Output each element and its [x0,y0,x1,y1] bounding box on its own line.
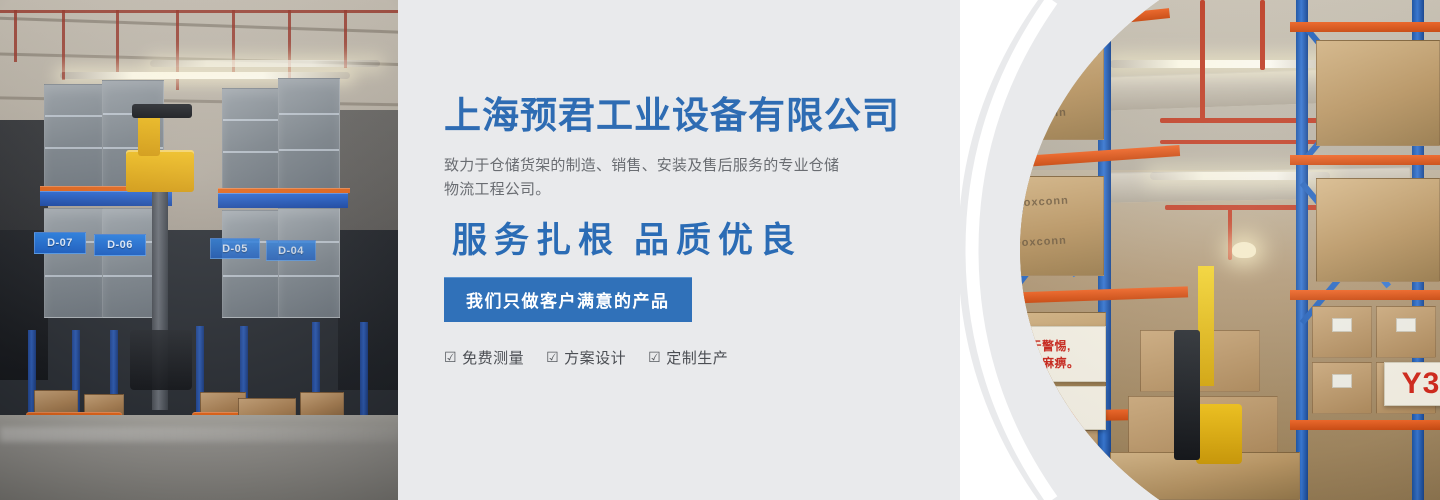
right-photo-clip: Foxconn Foxconn Foxconn Foxconn [960,0,1440,500]
slogan-part-2: 品质优良 [634,221,802,260]
forklift-base [130,330,192,390]
safety-line-1: 安全来于警惕, [992,340,1096,352]
carton-box [1312,306,1372,358]
feature-item-free-measure: ☑ 免费测量 [444,347,524,368]
slogan: 服务扎根品质优良 [444,222,964,261]
high-bay-lamp [1232,242,1256,258]
pallet-load [1316,40,1440,146]
box-barcode-label [1332,374,1352,388]
box-barcode-label [1396,318,1416,332]
rack-upright [990,18,1003,500]
check-icon: ☑ [648,350,661,364]
pallet-load [44,84,106,192]
rack-beam [1290,155,1440,165]
forklift-operator [1174,330,1200,460]
feature-list: ☑ 免费测量 ☑ 方案设计 ☑ 定制生产 [444,347,964,368]
pallet-load [1316,178,1440,282]
company-title: 上海预君工业设备有限公司 [444,96,964,137]
pallet-load [222,88,284,194]
right-rack-shadow [338,110,398,390]
rack-sign: D-06 [94,234,146,256]
sprinkler-pipe [0,10,398,13]
rack-sign: D-07 [34,232,86,254]
center-panel: 上海预君工业设备有限公司 致力于仓储货架的制造、销售、安装及售后服务的专业仓储物… [398,0,1000,500]
left-warehouse-photo: D-07 D-06 D-05 D-04 [0,0,398,500]
forklift-cab [126,150,194,192]
sprinkler-drop [14,10,17,62]
carton-box [1012,430,1098,490]
ceiling-light [150,60,380,67]
pallet-load [1004,176,1104,276]
rack-beam [1290,420,1440,430]
warehouse-floor [0,415,398,500]
aisle-sign-far: Y3 [1384,362,1440,406]
feature-label: 方案设计 [564,347,626,368]
forklift-carriage [132,104,192,118]
feature-item-custom-production: ☑ 定制生产 [648,347,728,368]
carton-box [1312,362,1372,414]
rack-beam [276,188,350,193]
feature-item-plan-design: ☑ 方案设计 [546,347,626,368]
company-subtitle: 致力于仓储货架的制造、销售、安装及售后服务的专业仓储物流工程公司。 [444,154,854,204]
right-warehouse-photo: Foxconn Foxconn Foxconn Foxconn [960,0,1440,500]
rack-sign: D-05 [210,238,260,259]
safety-sign: 安全来于警惕, 事故出于麻痹。 [982,326,1106,382]
sprinkler-pipe [1260,0,1265,70]
safety-line-2: 事故出于麻痹。 [992,357,1096,369]
feature-label: 定制生产 [666,347,728,368]
aisle-sign-label: Y3 [1023,391,1062,425]
rack-beam [1290,22,1440,32]
rack-beam [1290,290,1440,300]
rack-sign: D-04 [266,240,316,261]
forklift-mast [1198,266,1214,386]
sprinkler-pipe [1200,0,1205,120]
blue-pallet [276,192,348,208]
carton-brand-label: Foxconn [1016,61,1069,76]
pallet-load [278,78,340,194]
sprinkler-drop [62,10,65,80]
forklift [1196,404,1242,464]
feature-label: 免费测量 [462,347,524,368]
pallet-load [1004,40,1104,140]
rack-upright [360,322,368,415]
carton-box [1376,306,1436,358]
pallet-load [278,208,340,318]
hero-banner: D-07 D-06 D-05 D-04 上海预君工业设备有限公司 [0,0,1440,500]
aisle-sign: Y3 [978,386,1106,430]
aisle-sign-far-label: Y3 [1402,367,1440,401]
check-icon: ☑ [444,350,457,364]
sprinkler-drop [116,10,119,72]
cta-button[interactable]: 我们只做客户满意的产品 [444,277,692,322]
slogan-part-1: 服务扎根 [452,221,620,260]
pallet-load [222,210,284,318]
box-barcode-label [1332,318,1352,332]
check-icon: ☑ [546,350,559,364]
pallet-load [44,208,106,318]
hero-content: 上海预君工业设备有限公司 致力于仓储货架的制造、销售、安装及售后服务的专业仓储物… [444,96,964,368]
